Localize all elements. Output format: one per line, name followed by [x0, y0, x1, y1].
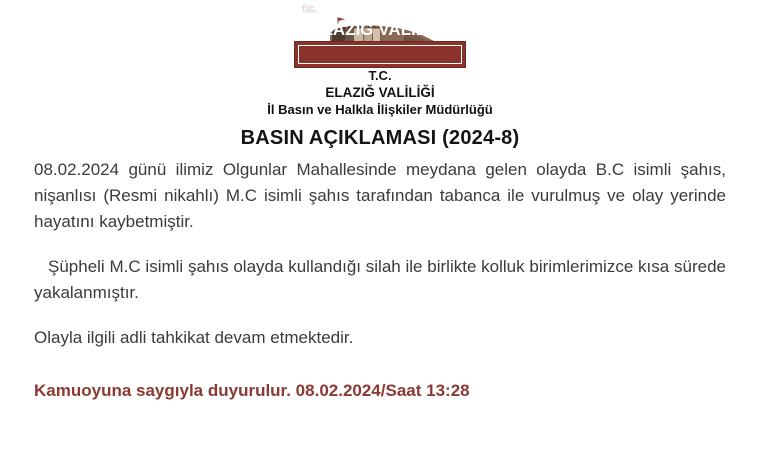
header-line-tc: T.C.	[0, 68, 760, 84]
page-title: BASIN AÇIKLAMASI (2024-8)	[0, 126, 760, 150]
document-header: T.C. ELAZIĞ VALİLİĞİ İl Basın ve Halkla …	[0, 68, 760, 118]
body-paragraph-1: 08.02.2024 günü ilimiz Olgunlar Mahalles…	[34, 157, 726, 235]
header-line-mudurluk: İl Basın ve Halkla İlişkiler Müdürlüğü	[0, 101, 760, 118]
elazig-valiligi-logo: T.C. ELAZIĞ VALİLİĞİ	[294, 16, 466, 68]
logo-container: T.C. ELAZIĞ VALİLİĞİ	[0, 16, 760, 68]
logo-banner	[294, 41, 466, 68]
press-release-document: T.C. ELAZIĞ VALİLİĞİ T.C. ELAZIĞ VALİLİĞ…	[0, 0, 760, 450]
logo-banner-tc-text: T.C.	[302, 5, 316, 14]
closing-statement: Kamuoyuna saygıyla duyurulur. 08.02.2024…	[34, 379, 726, 403]
logo-banner-inner-border	[298, 45, 462, 64]
body-paragraph-2: Şüpheli M.C isimli şahıs olayda kullandı…	[34, 254, 726, 306]
document-body: 08.02.2024 günü ilimiz Olgunlar Mahalles…	[34, 157, 726, 351]
header-line-valilik: ELAZIĞ VALİLİĞİ	[0, 84, 760, 101]
logo-banner-text: ELAZIĞ VALİLİĞİ	[294, 20, 466, 39]
body-paragraph-3: Olayla ilgili adli tahkikat devam etmekt…	[34, 325, 726, 351]
